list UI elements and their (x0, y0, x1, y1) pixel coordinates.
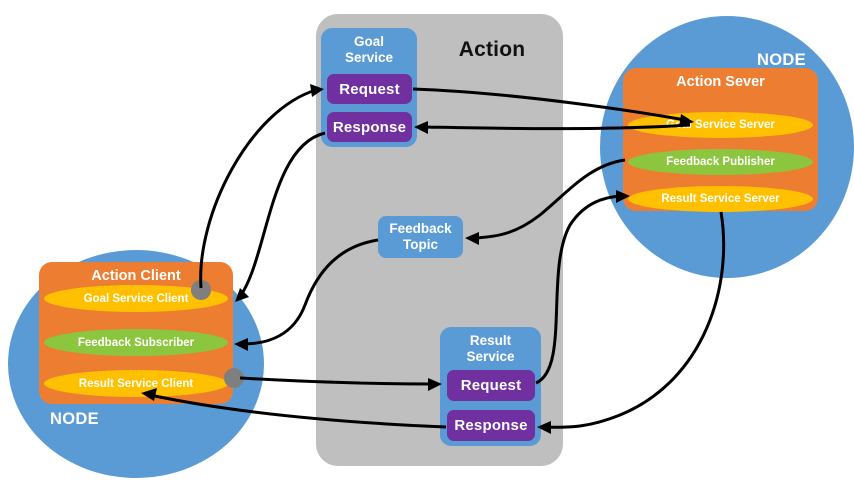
result-service-title-line1: Result (470, 333, 511, 348)
result-service-response[interactable]: Response (447, 410, 535, 441)
client-node-label: NODE (50, 410, 99, 429)
goal-service-request[interactable]: Request (327, 74, 412, 104)
result-client-connector-dot (224, 368, 244, 388)
goal-service-title: Goal Service (321, 34, 417, 66)
action-server-title: Action Sever (623, 74, 818, 90)
goal-service-response[interactable]: Response (327, 112, 412, 142)
arrow-goal-response-to-goal-client (235, 133, 325, 302)
action-panel-title: Action (432, 38, 552, 62)
entry-result-service-client[interactable]: Result Service Client (44, 370, 228, 397)
feedback-topic-line2: Topic (403, 237, 438, 253)
result-service-title-line2: Service (466, 349, 514, 364)
goal-service-title-line1: Goal (354, 34, 384, 49)
entry-feedback-publisher[interactable]: Feedback Publisher (628, 149, 813, 175)
goal-client-connector-dot (191, 280, 211, 300)
result-service-title: Result Service (440, 333, 541, 365)
feedback-topic-box[interactable]: Feedback Topic (378, 216, 463, 258)
result-service-request[interactable]: Request (447, 370, 535, 401)
entry-goal-service-server[interactable]: Goal Service Server (628, 112, 813, 138)
entry-result-service-server[interactable]: Result Service Server (628, 186, 813, 212)
goal-service-title-line2: Service (345, 50, 393, 65)
action-architecture-diagram: Action NODE Action Client Goal Service C… (0, 0, 854, 480)
feedback-topic-line1: Feedback (389, 221, 451, 237)
arrow-goal-client-to-goal-request (201, 84, 324, 288)
entry-feedback-subscriber[interactable]: Feedback Subscriber (44, 329, 228, 356)
